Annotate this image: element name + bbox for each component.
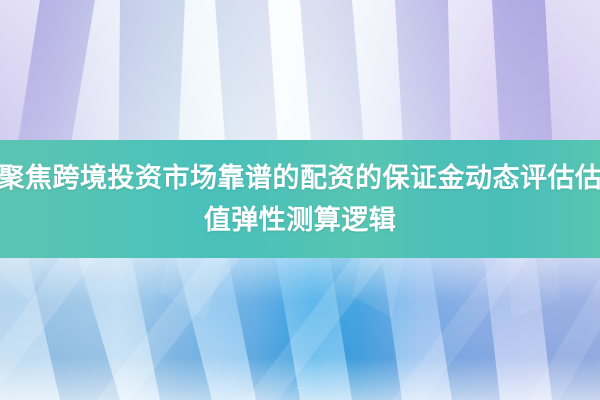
- promo-banner: 聚焦跨境投资市场靠谱的配资的保证金动态评估估 值弹性测算逻辑 ··: [0, 0, 600, 400]
- headline-line-2: 值弹性测算逻辑: [204, 200, 397, 240]
- background-gradient-bottom: [0, 258, 600, 400]
- headline-line-1: 聚焦跨境投资市场靠谱的配资的保证金动态评估估: [0, 158, 600, 198]
- background-bottom-fade: [0, 258, 600, 400]
- watermark: ··: [0, 382, 600, 394]
- headline: 聚焦跨境投资市场靠谱的配资的保证金动态评估估 值弹性测算逻辑: [0, 140, 600, 258]
